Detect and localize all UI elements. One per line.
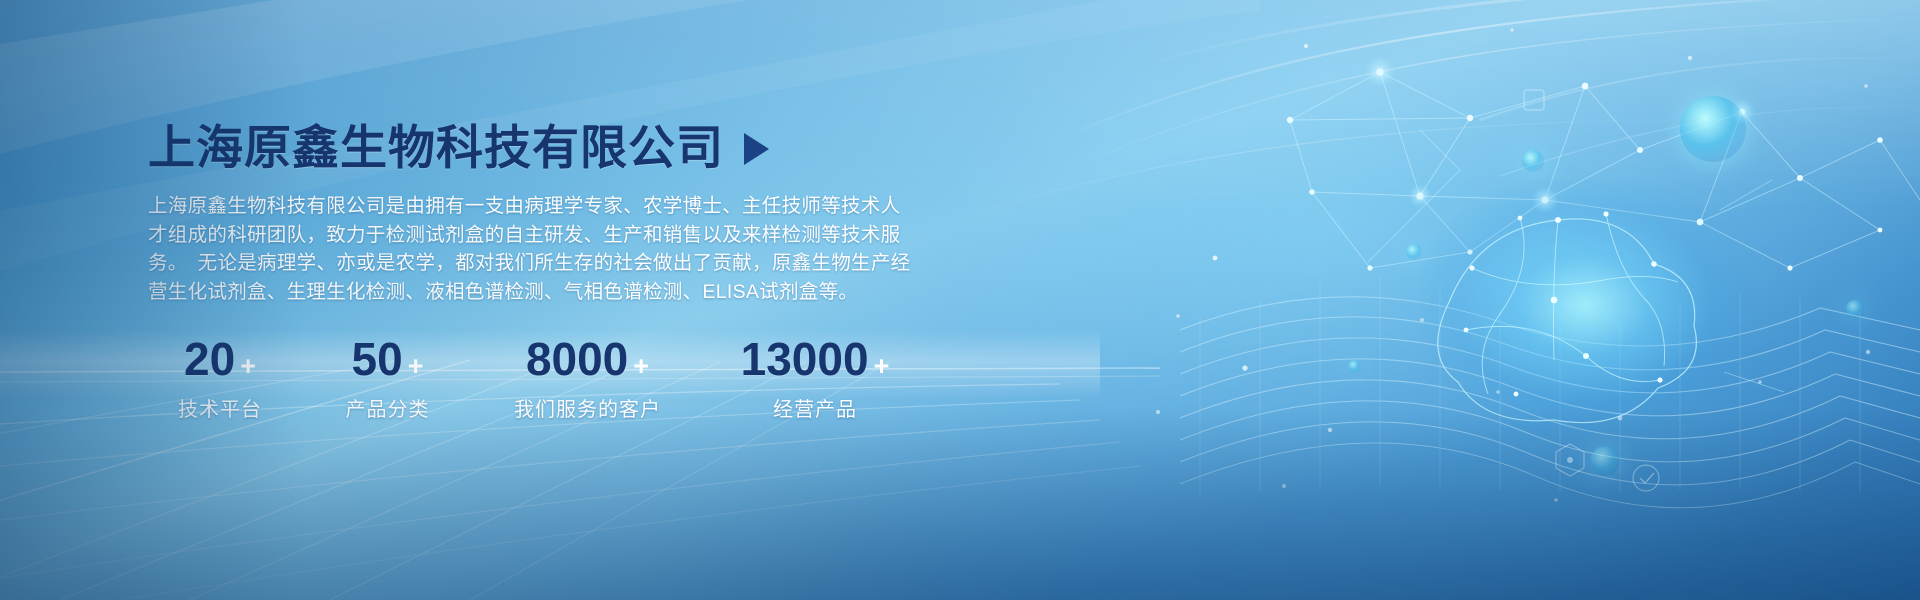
virus-cell-icon [1348,360,1361,373]
description-line: 上海原鑫生物科技有限公司是由拥有一支由病理学专家、农学博士、主任技师等技术人 [148,192,948,221]
description-line: 营生化试剂盒、生理生化检测、液相色谱检测、气相色谱检测、ELISA试剂盒等。 [148,278,948,307]
stat-item-products-operated: 13000 + 经营产品 [700,336,930,422]
stat-value-row: 13000 + [741,336,890,382]
stat-plus-sign: + [408,353,424,380]
stat-plus-sign: + [874,353,890,380]
stat-value: 50 [352,336,403,382]
virus-cell-icon [1522,150,1544,172]
biotech-artwork [1120,0,1920,600]
description-line: 才组成的科研团队，致力于检测试剂盒的自主研发、生产和销售以及来样检测等技术服 [148,221,948,250]
stats-row: 20 + 技术平台 50 + 产品分类 8000 + 我们服务的客户 [140,336,930,422]
stat-value-row: 20 + [184,336,256,382]
hero-banner: 上海原鑫生物科技有限公司 上海原鑫生物科技有限公司是由拥有一支由病理学专家、农学… [0,0,1920,600]
stat-item-customers-served: 8000 + 我们服务的客户 [475,336,700,422]
stat-plus-sign: + [240,353,256,380]
stat-value: 20 [184,336,235,382]
play-triangle-icon[interactable] [744,133,769,165]
stat-item-tech-platforms: 20 + 技术平台 [140,336,300,422]
stat-plus-sign: + [633,353,649,380]
virus-cell-icon [1406,244,1422,260]
stat-value: 13000 [741,336,869,382]
stat-value-row: 50 + [352,336,424,382]
banner-content: 上海原鑫生物科技有限公司 上海原鑫生物科技有限公司是由拥有一支由病理学专家、农学… [0,0,1000,600]
brain-wire-overlay [1120,0,1920,600]
stat-value-row: 8000 + [526,336,649,382]
stat-label: 我们服务的客户 [514,393,661,422]
page-title: 上海原鑫生物科技有限公司 [148,124,724,171]
virus-cell-icon [1590,446,1620,476]
stat-item-product-categories: 50 + 产品分类 [300,336,475,422]
virus-cell-icon [1680,96,1746,162]
title-row: 上海原鑫生物科技有限公司 [148,124,769,171]
description-line: 务。 无论是病理学、亦或是农学，都对我们所生存的社会做出了贡献，原鑫生物生产经 [148,249,948,278]
stat-value: 8000 [526,336,628,382]
stat-label: 技术平台 [178,393,262,422]
company-description: 上海原鑫生物科技有限公司是由拥有一支由病理学专家、农学博士、主任技师等技术人 才… [148,192,948,306]
stat-label: 产品分类 [346,393,430,422]
virus-cell-icon [1846,300,1864,318]
stat-label: 经营产品 [773,393,857,422]
